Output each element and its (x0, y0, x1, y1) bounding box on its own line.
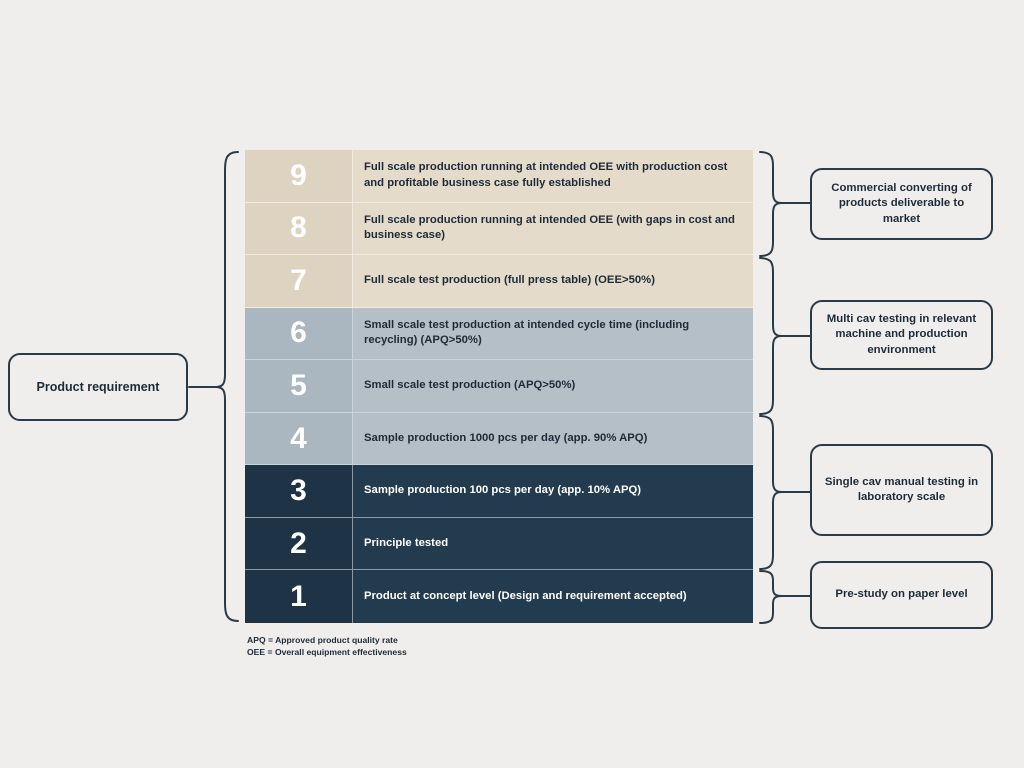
brace-group-4 (760, 571, 810, 623)
legend-footnotes: APQ = Approved product quality rate OEE … (247, 634, 407, 659)
table-row[interactable]: 8 Full scale production running at inten… (245, 203, 753, 256)
callout-single-cav-testing[interactable]: Single cav manual testing in laboratory … (810, 444, 993, 536)
callout-label: Pre-study on paper level (835, 587, 967, 602)
footnote-apq: APQ = Approved product quality rate (247, 634, 407, 646)
table-row[interactable]: 3 Sample production 100 pcs per day (app… (245, 465, 753, 518)
table-row[interactable]: 6 Small scale test production at intende… (245, 308, 753, 361)
level-number: 4 (245, 413, 352, 465)
callout-commercial-converting[interactable]: Commercial converting of products delive… (810, 168, 993, 240)
level-description: Sample production 100 pcs per day (app. … (352, 465, 753, 517)
product-requirement-label: Product requirement (37, 379, 160, 396)
callout-label: Commercial converting of products delive… (822, 181, 981, 227)
level-number: 3 (245, 465, 352, 517)
level-description: Sample production 1000 pcs per day (app.… (352, 413, 753, 465)
product-requirement-node[interactable]: Product requirement (8, 353, 188, 421)
table-row[interactable]: 7 Full scale test production (full press… (245, 255, 753, 308)
level-number: 1 (245, 570, 352, 623)
level-description: Principle tested (352, 518, 753, 570)
callout-label: Multi cav testing in relevant machine an… (822, 312, 981, 358)
callout-multi-cav-testing[interactable]: Multi cav testing in relevant machine an… (810, 300, 993, 370)
level-number: 2 (245, 518, 352, 570)
table-row[interactable]: 9 Full scale production running at inten… (245, 150, 753, 203)
brace-group-2 (760, 258, 810, 414)
footnote-oee: OEE = Overall equipment effectiveness (247, 646, 407, 658)
table-row[interactable]: 4 Sample production 1000 pcs per day (ap… (245, 413, 753, 466)
brace-group-3 (760, 416, 810, 569)
callout-pre-study[interactable]: Pre-study on paper level (810, 561, 993, 629)
level-number: 6 (245, 308, 352, 360)
level-description: Small scale test production (APQ>50%) (352, 360, 753, 412)
level-description: Full scale production running at intende… (352, 150, 753, 202)
brace-group-1 (760, 152, 810, 256)
level-number: 9 (245, 150, 352, 202)
table-row[interactable]: 2 Principle tested (245, 518, 753, 571)
table-row[interactable]: 5 Small scale test production (APQ>50%) (245, 360, 753, 413)
level-description: Full scale test production (full press t… (352, 255, 753, 307)
table-row[interactable]: 1 Product at concept level (Design and r… (245, 570, 753, 623)
diagram-canvas: Product requirement 9 Full scale product… (0, 0, 1024, 768)
level-description: Small scale test production at intended … (352, 308, 753, 360)
maturity-level-table: 9 Full scale production running at inten… (245, 150, 753, 623)
callout-label: Single cav manual testing in laboratory … (822, 475, 981, 506)
level-number: 5 (245, 360, 352, 412)
level-number: 7 (245, 255, 352, 307)
level-number: 8 (245, 203, 352, 255)
level-description: Product at concept level (Design and req… (352, 570, 753, 623)
level-description: Full scale production running at intende… (352, 203, 753, 255)
left-brace (189, 152, 238, 621)
